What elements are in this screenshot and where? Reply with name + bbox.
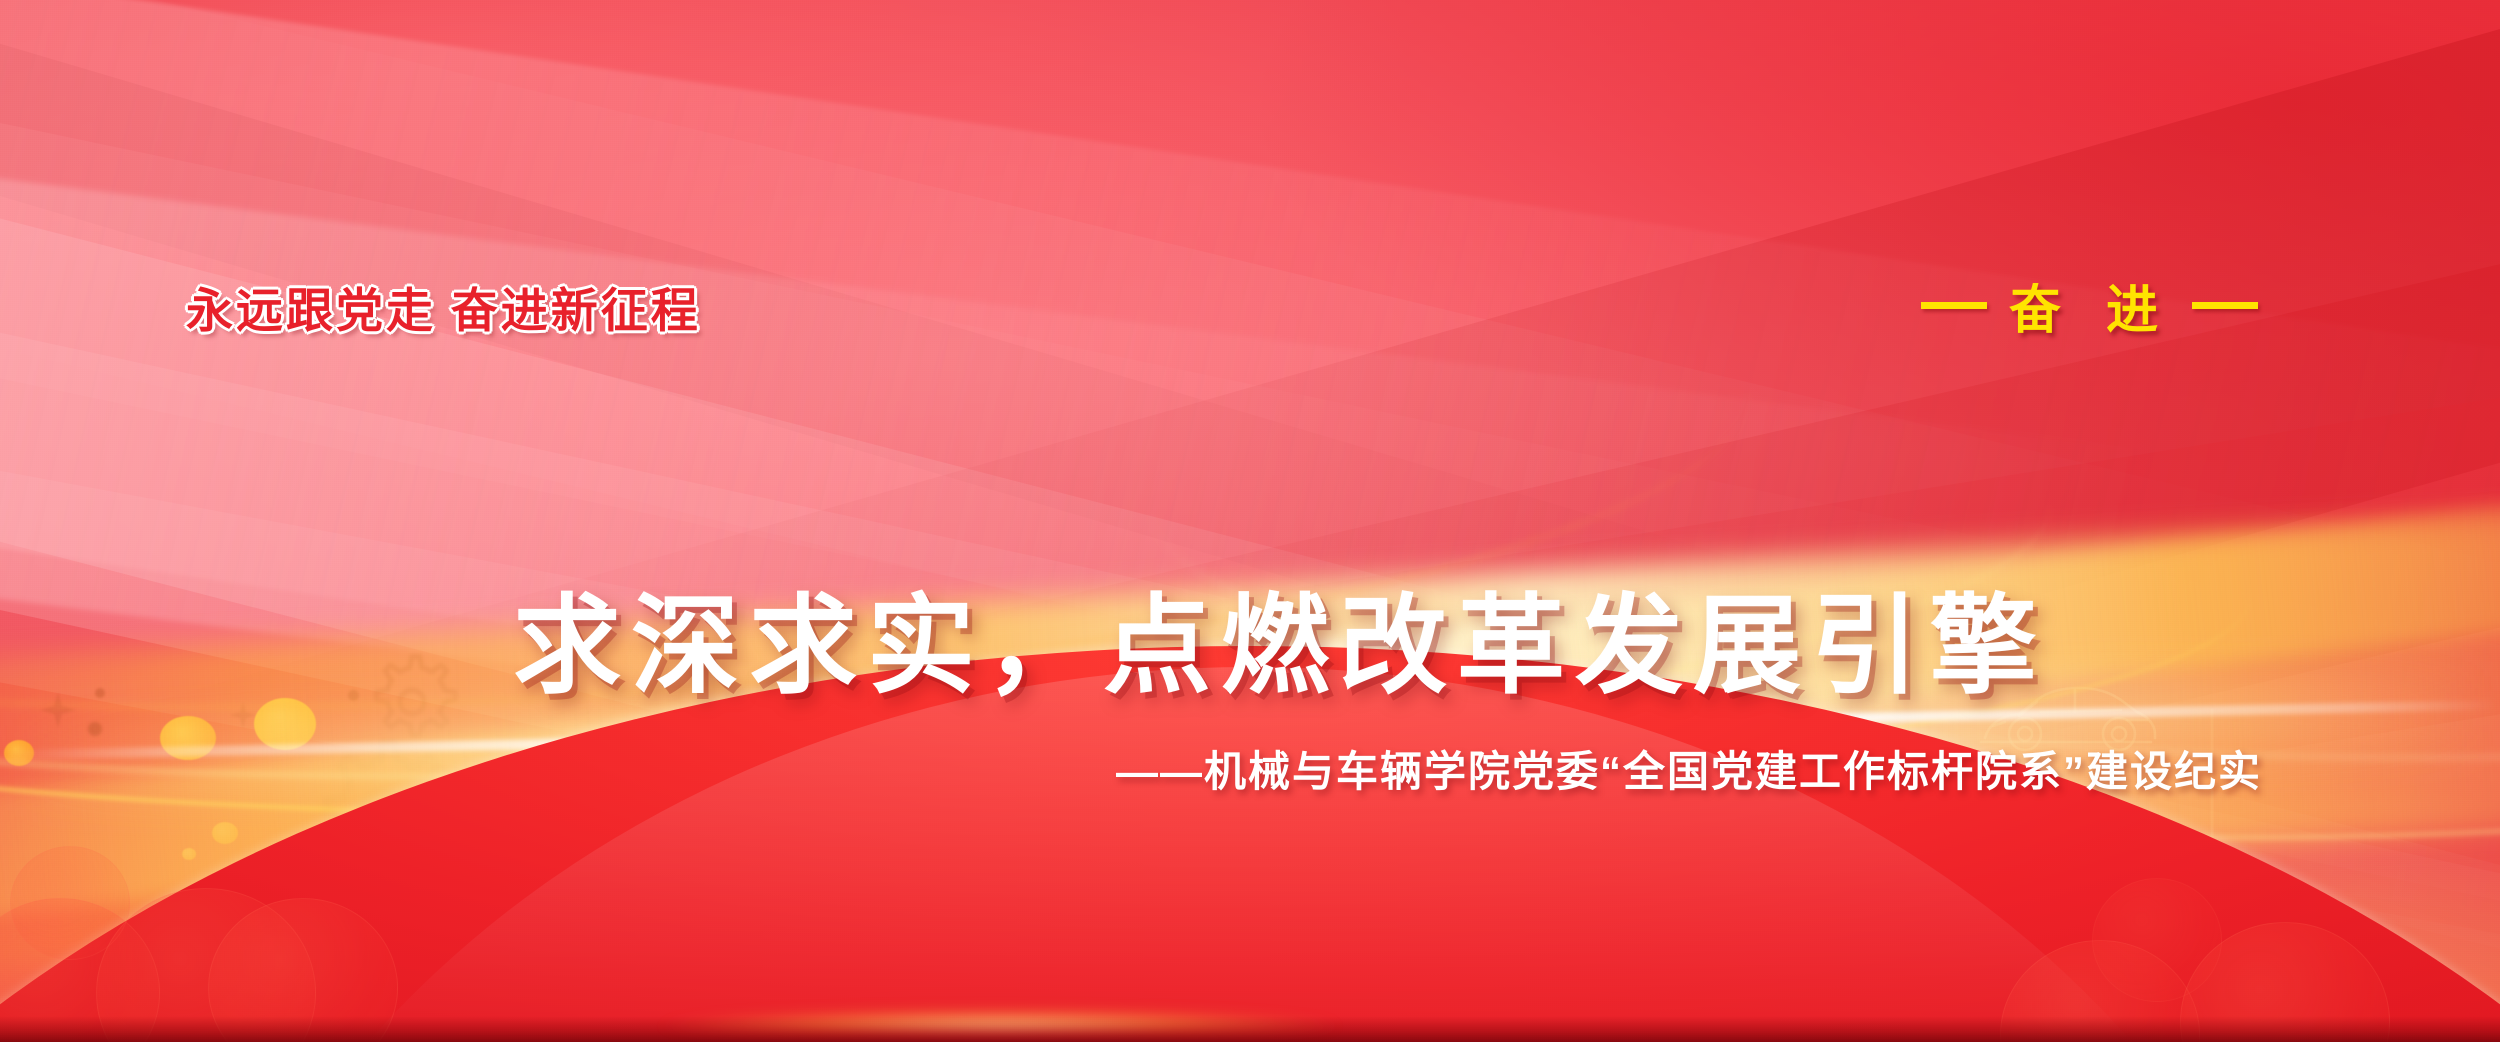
- slogan-text: 永远跟党走 奋进新征程: [186, 272, 701, 341]
- bottom-center-glint: [600, 1002, 1400, 1028]
- subtitle-text: ——机械与车辆学院党委“全国党建工作标杆院系”建设纪实: [1116, 738, 2262, 799]
- badge-dash-right: [2192, 302, 2258, 309]
- fenjin-badge: 奋 进: [1921, 268, 2258, 343]
- bokeh-dark: [10, 846, 130, 960]
- page-title: 求深求实，点燃改革发展引擎: [0, 588, 2500, 709]
- badge-dash-left: [1921, 302, 1987, 309]
- bokeh-dark: [2092, 878, 2222, 1002]
- badge-label: 奋 进: [2005, 268, 2174, 343]
- party-building-banner: 永远跟党走 奋进新征程 奋 进 求深求实，点燃改革发展引擎 ——机械与车辆学院党…: [0, 0, 2500, 1042]
